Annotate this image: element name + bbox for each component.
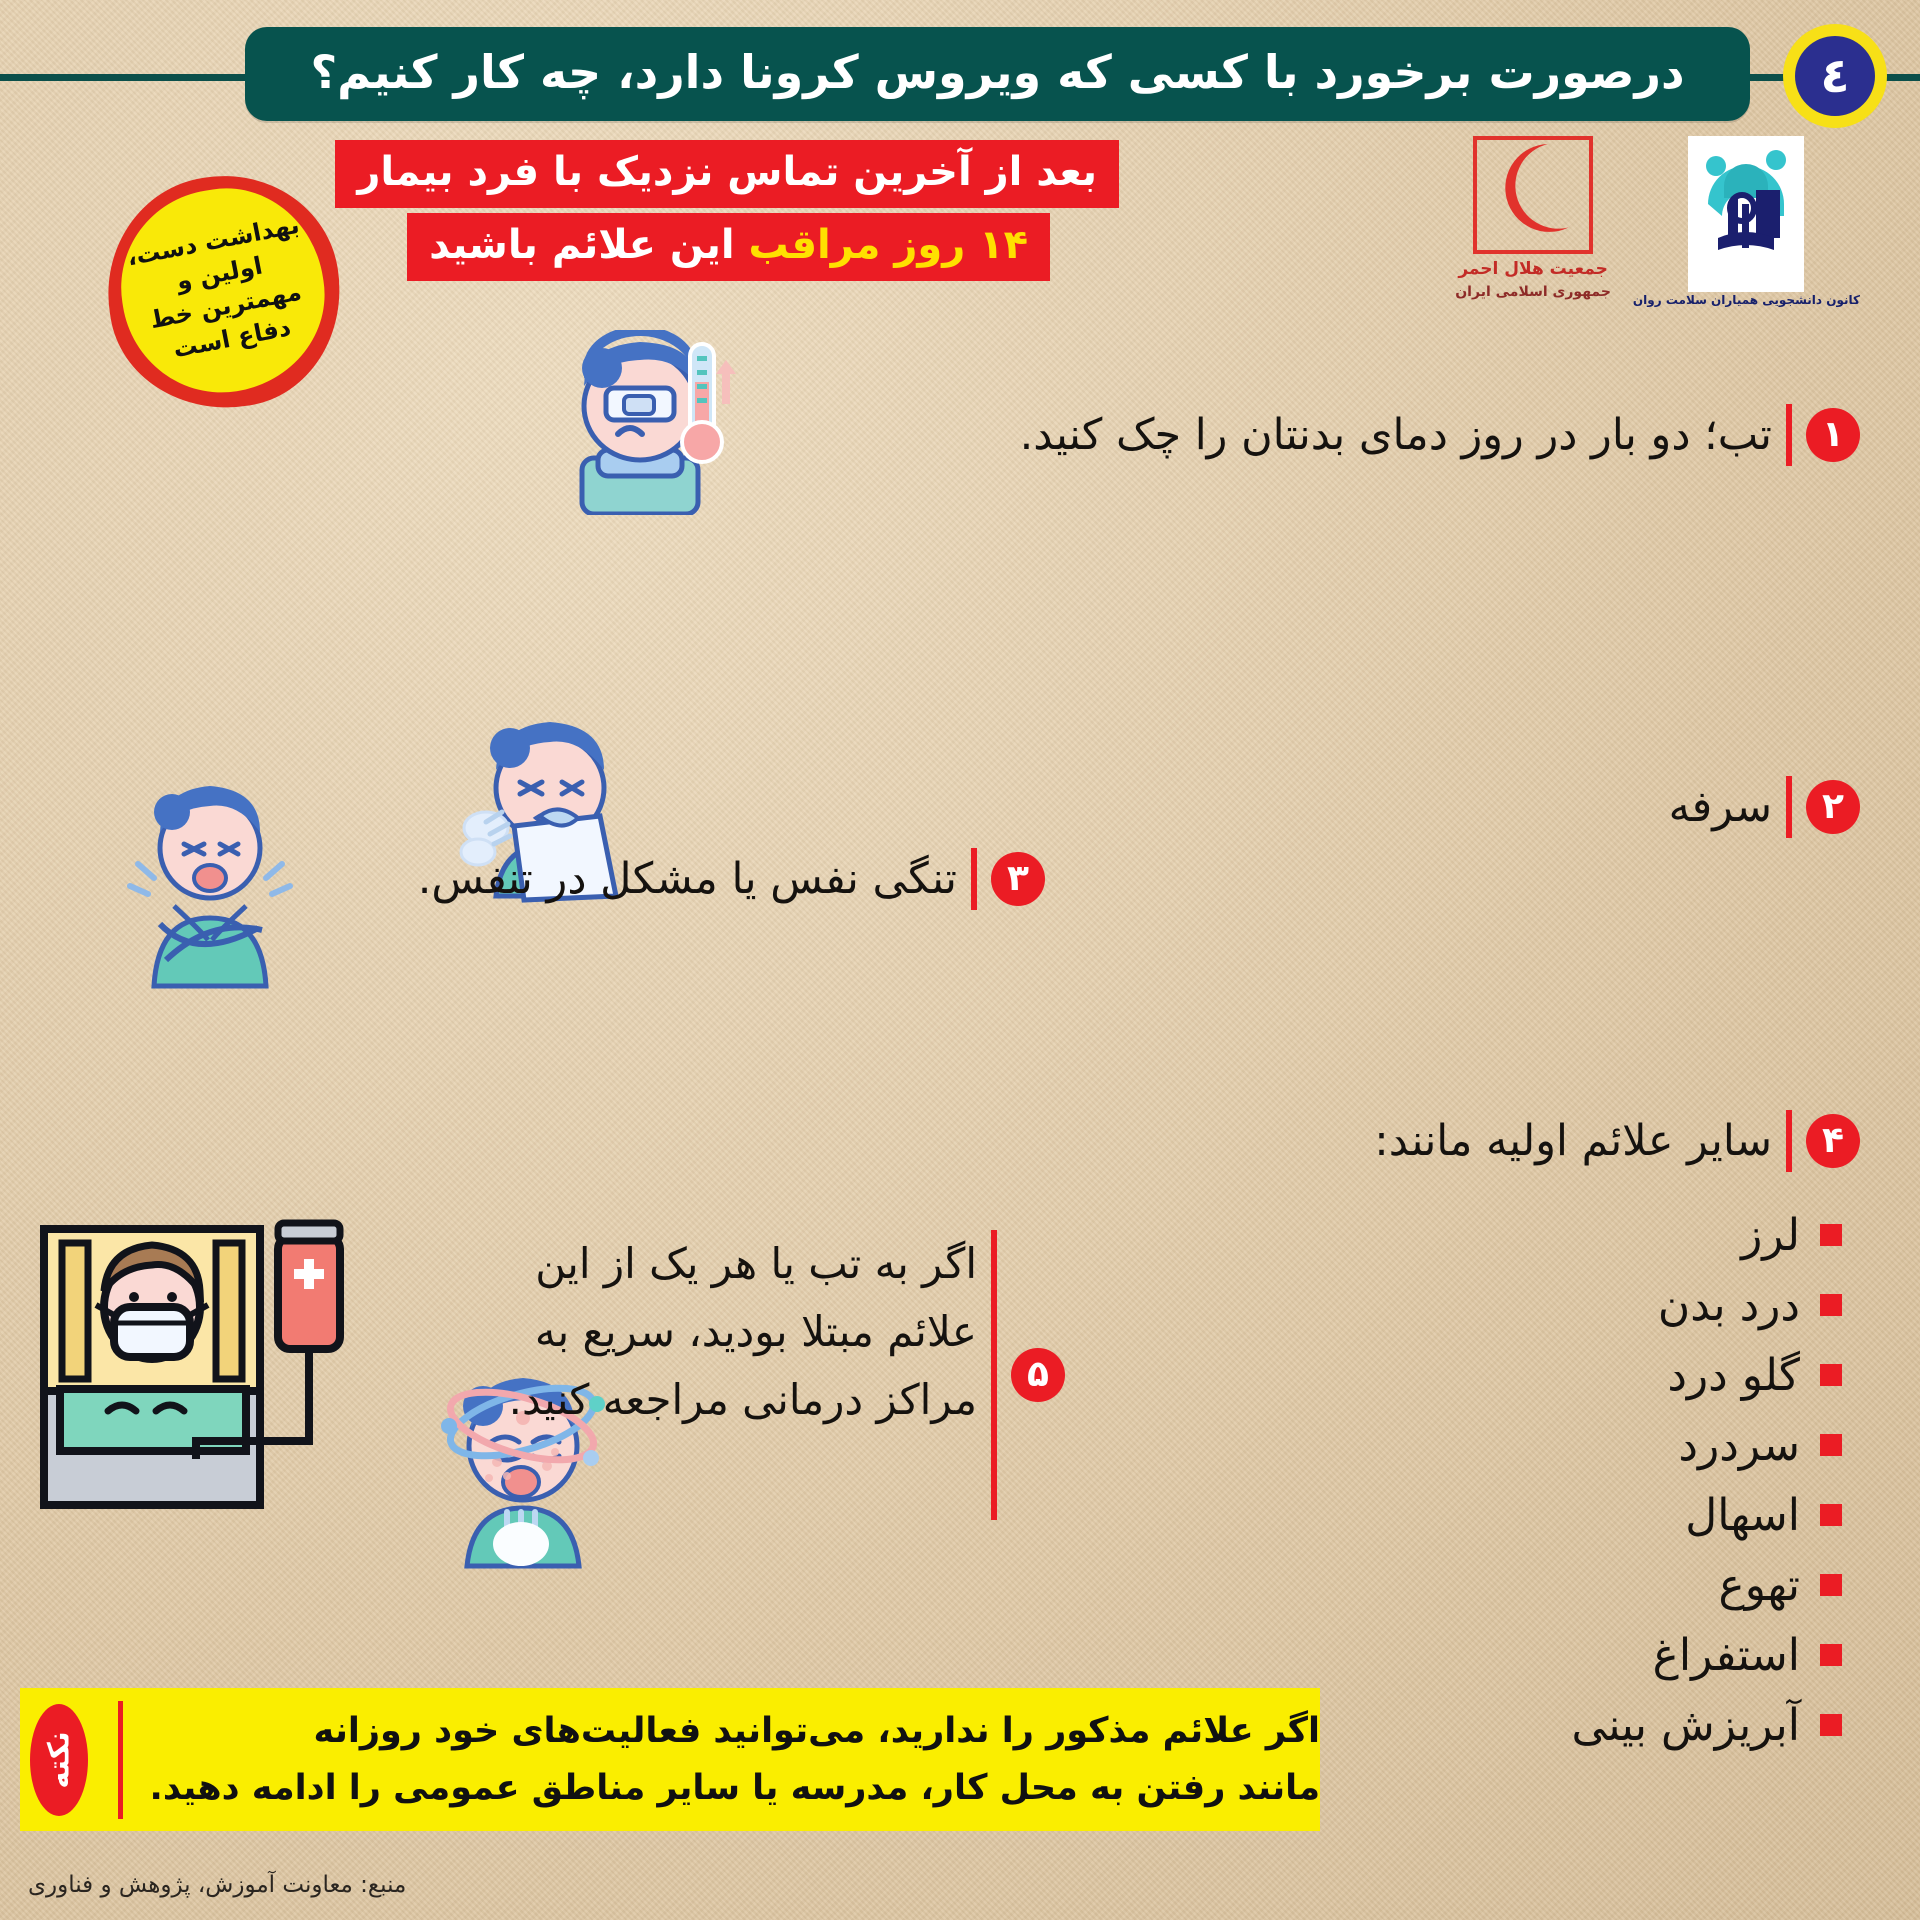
header-banner: درصورت برخورد با کسی که ویروس کرونا دارد… bbox=[245, 27, 1750, 121]
page-title: درصورت برخورد با کسی که ویروس کرونا دارد… bbox=[310, 45, 1684, 99]
hand-hygiene-stamp: بهداشت دست، اولین و مهمترین خط دفاع است bbox=[91, 159, 356, 424]
symptom-label: لرز bbox=[1741, 1210, 1800, 1261]
item-text: تنگی نفس یا مشکل در تنفس. bbox=[418, 848, 957, 910]
list-item: استفراغ bbox=[1372, 1620, 1842, 1690]
bullet-square-icon bbox=[1820, 1224, 1842, 1246]
list-item: اسهال bbox=[1372, 1480, 1842, 1550]
list-item-2: ۲ سرفه bbox=[1669, 776, 1860, 838]
note-banner: نکته اگر علائم مذکور را ندارید، می‌توانی… bbox=[20, 1688, 1320, 1831]
symptom-label: اسهال bbox=[1685, 1490, 1800, 1541]
red-crescent-caption: جمعیت هلال احمر bbox=[1458, 259, 1608, 279]
mental-health-association-logo: کانون دانشجویی همیاران سلامت روان bbox=[1633, 136, 1860, 307]
subhead-rest: این علائم باشید bbox=[429, 222, 734, 268]
source-credit: منبع: معاونت آموزش، پژوهش و فناوری bbox=[28, 1872, 406, 1898]
item-divider-bar bbox=[1786, 404, 1792, 466]
list-item: سردرد bbox=[1372, 1410, 1842, 1480]
note-line-1: اگر علائم مذکور را ندارید، می‌توانید فعا… bbox=[137, 1703, 1320, 1760]
symptom-label: سردرد bbox=[1678, 1420, 1800, 1471]
bullet-square-icon bbox=[1820, 1574, 1842, 1596]
list-item-4: ۴ سایر علائم اولیه مانند: bbox=[1374, 1110, 1860, 1172]
note-line-2: مانند رفتن به محل کار، مدرسه یا سایر منا… bbox=[137, 1760, 1320, 1817]
item-divider-bar bbox=[1786, 1110, 1792, 1172]
symptom-bullet-list: لرز درد بدن گلو درد سردرد اسهال تهوع است… bbox=[1372, 1200, 1842, 1760]
red-crescent-subcaption: جمهوری اسلامی ایران bbox=[1455, 284, 1611, 300]
item-number: ۴ bbox=[1806, 1114, 1860, 1168]
item-divider-bar bbox=[991, 1230, 997, 1520]
note-chip: نکته bbox=[30, 1704, 88, 1816]
symptom-label: استفراغ bbox=[1653, 1630, 1800, 1681]
bullet-square-icon bbox=[1820, 1644, 1842, 1666]
hospital-bed-icon bbox=[30, 1215, 360, 1519]
list-item: تهوع bbox=[1372, 1550, 1842, 1620]
bullet-square-icon bbox=[1820, 1504, 1842, 1526]
list-item-1: ۱ تب؛ دو بار در روز دمای بدنتان را چک کن… bbox=[1020, 404, 1860, 466]
list-item: لرز bbox=[1372, 1200, 1842, 1270]
red-crescent-icon bbox=[1473, 136, 1593, 254]
red-crescent-logo: جمعیت هلال احمر جمهوری اسلامی ایران bbox=[1455, 136, 1611, 300]
infographic-poster: درصورت برخورد با کسی که ویروس کرونا دارد… bbox=[0, 0, 1920, 1920]
list-item: درد بدن bbox=[1372, 1270, 1842, 1340]
symptom-label: گلو درد bbox=[1667, 1350, 1800, 1401]
bullet-square-icon bbox=[1820, 1714, 1842, 1736]
item-text: سرفه bbox=[1669, 776, 1772, 838]
bullet-square-icon bbox=[1820, 1364, 1842, 1386]
bullet-square-icon bbox=[1820, 1294, 1842, 1316]
item-divider-bar bbox=[1786, 776, 1792, 838]
item-text: اگر به تب یا هر یک از این علائم مبتلا بو… bbox=[507, 1230, 977, 1520]
list-item: آبریزش بینی bbox=[1372, 1690, 1842, 1760]
shortness-of-breath-icon bbox=[110, 760, 310, 994]
step-number-badge: ٤ bbox=[1783, 24, 1887, 128]
item-number: ۳ bbox=[991, 852, 1045, 906]
item-number: ۵ bbox=[1011, 1348, 1065, 1402]
step-number-value: ٤ bbox=[1795, 36, 1875, 116]
item-number: ۲ bbox=[1806, 780, 1860, 834]
fever-thermometer-icon bbox=[540, 330, 740, 519]
symptom-label: درد بدن bbox=[1658, 1280, 1800, 1331]
crescent-moon-icon bbox=[1485, 140, 1589, 242]
stamp-text: بهداشت دست، اولین و مهمترین خط دفاع است bbox=[122, 208, 324, 372]
list-item-5: ۵ اگر به تب یا هر یک از این علائم مبتلا … bbox=[507, 1230, 1065, 1520]
list-item: گلو درد bbox=[1372, 1340, 1842, 1410]
item-number: ۱ bbox=[1806, 408, 1860, 462]
association-logo-caption: کانون دانشجویی همیاران سلامت روان bbox=[1633, 294, 1860, 307]
symptom-label: تهوع bbox=[1718, 1560, 1800, 1611]
subhead-highlight: ۱۴ روز مراقب bbox=[749, 222, 1029, 268]
symptom-label: آبریزش بینی bbox=[1572, 1700, 1800, 1751]
note-chip-label: نکته bbox=[42, 1731, 76, 1788]
subhead-line-1: بعد از آخرین تماس نزدیک با فرد بیمار bbox=[335, 140, 1119, 208]
item-text: تب؛ دو بار در روز دمای بدنتان را چک کنید… bbox=[1020, 404, 1772, 466]
item-divider-bar bbox=[971, 848, 977, 910]
list-item-3: ۳ تنگی نفس یا مشکل در تنفس. bbox=[418, 848, 1045, 910]
association-emblem-icon bbox=[1694, 142, 1798, 258]
note-text: اگر علائم مذکور را ندارید، می‌توانید فعا… bbox=[123, 1703, 1320, 1816]
logo-group: کانون دانشجویی همیاران سلامت روان جمعیت … bbox=[1455, 136, 1860, 307]
subhead-line-2: ۱۴ روز مراقب این علائم باشید bbox=[407, 213, 1050, 281]
item-text: سایر علائم اولیه مانند: bbox=[1374, 1110, 1772, 1172]
note-divider-bar bbox=[118, 1701, 123, 1819]
association-logo-mark bbox=[1688, 136, 1804, 292]
bullet-square-icon bbox=[1820, 1434, 1842, 1456]
